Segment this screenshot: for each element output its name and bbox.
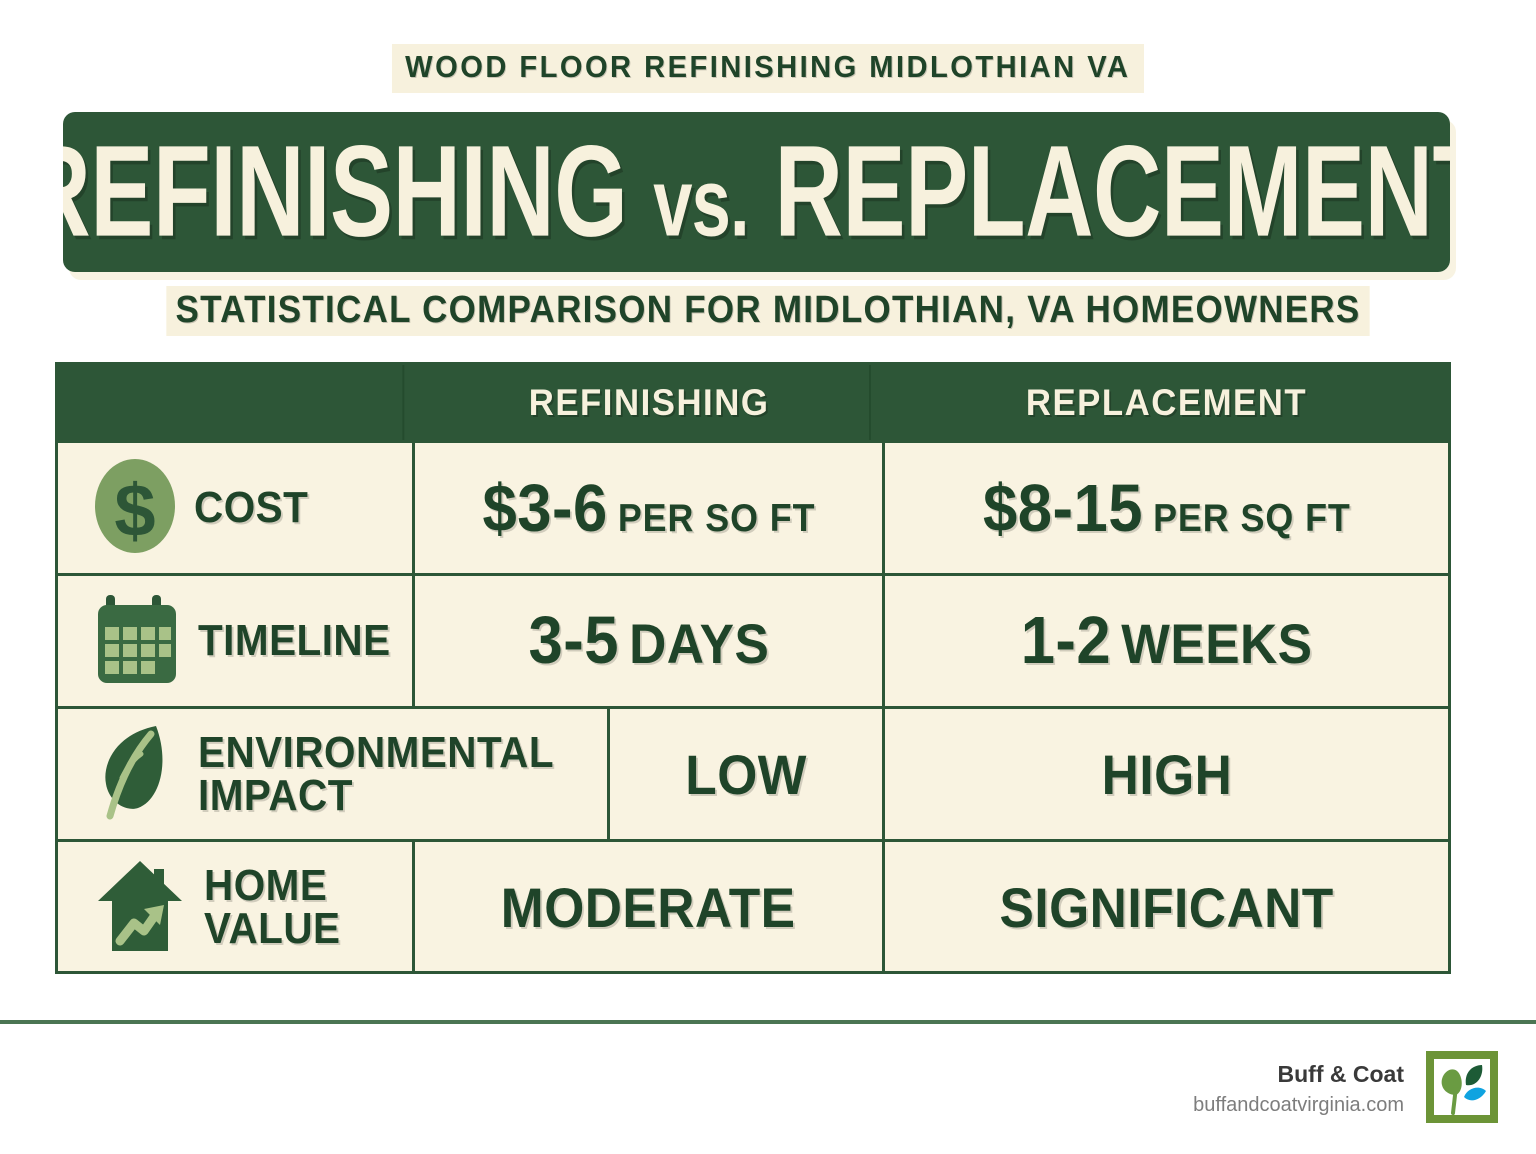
title-vs: vs. — [654, 150, 749, 257]
title-part-2: REPLACEMENT — [775, 119, 1450, 264]
eyebrow-text: WOOD FLOOR REFINISHING MIDLOTHIAN VA — [392, 44, 1144, 93]
row-label-text: COST — [194, 486, 308, 529]
row-label-cost: $ COST — [58, 443, 415, 573]
cell-environmental-replacement: HIGH — [885, 709, 1448, 839]
brand-url: buffandcoatvirginia.com — [1193, 1091, 1404, 1120]
footer: Buff & Coat buffandcoatvirginia.com — [0, 1024, 1536, 1154]
eyebrow-wrap: WOOD FLOOR REFINISHING MIDLOTHIAN VA — [0, 44, 1536, 93]
calendar-icon — [94, 591, 180, 692]
title-part-1: REFINISHING — [63, 119, 628, 264]
dollar-coin-icon: $ — [94, 457, 176, 560]
row-label-text: TIMELINE — [198, 619, 391, 662]
label-line-2: IMPACT — [198, 771, 353, 820]
row-label-text: HOMEVALUE — [204, 864, 340, 950]
cell-home-value-replacement: SIGNIFICANT — [885, 842, 1448, 972]
leaf-icon — [94, 720, 180, 829]
table-row-home-value: HOMEVALUE MODERATE SIGNIFICANT — [58, 839, 1448, 972]
cost-replacement-value: $8-15 — [983, 475, 1143, 542]
table-row-timeline: TIMELINE 3-5 DAYS 1-2 WEEKS — [58, 573, 1448, 706]
timeline-replacement-unit: WEEKS — [1121, 611, 1312, 676]
cell-cost-replacement: $8-15 PER SQ FT — [885, 443, 1448, 573]
label-line-2: VALUE — [204, 904, 340, 953]
timeline-refinishing-unit: DAYS — [629, 611, 769, 676]
timeline-refinishing-value: 3-5 — [528, 607, 618, 674]
buff-and-coat-leaf-logo — [1426, 1051, 1498, 1128]
cell-cost-refinishing: $3-6 PER SO FT — [415, 443, 885, 573]
brand-name: Buff & Coat — [1193, 1058, 1404, 1091]
title-banner: REFINISHING vs. REPLACEMENT — [63, 112, 1450, 272]
cell-timeline-refinishing: 3-5 DAYS — [415, 576, 885, 706]
row-label-text: ENVIRONMENTALIMPACT — [198, 731, 554, 817]
footer-text-block: Buff & Coat buffandcoatvirginia.com — [1193, 1058, 1404, 1120]
svg-text:$: $ — [114, 469, 155, 552]
cost-replacement-unit: PER SQ FT — [1153, 499, 1351, 538]
environmental-refinishing-value: LOW — [685, 742, 807, 807]
table-header-row: REFINISHING REPLACEMENT — [58, 365, 1448, 440]
cell-timeline-replacement: 1-2 WEEKS — [885, 576, 1448, 706]
label-line-1: ENVIRONMENTAL — [198, 728, 554, 777]
subtitle-text: STATISTICAL COMPARISON FOR MIDLOTHIAN, V… — [166, 286, 1369, 336]
cost-refinishing-unit: PER SO FT — [617, 499, 815, 538]
table-row-environmental-impact: ENVIRONMENTALIMPACT LOW HIGH — [58, 706, 1448, 839]
table-header-replacement: REPLACEMENT — [902, 365, 1431, 440]
house-growth-icon — [94, 853, 186, 962]
page-title: REFINISHING vs. REPLACEMENT — [63, 127, 1450, 257]
label-line-1: HOME — [204, 861, 327, 910]
timeline-replacement-value: 1-2 — [1021, 607, 1111, 674]
row-label-home-value: HOMEVALUE — [58, 842, 415, 972]
table-header-refinishing: REFINISHING — [429, 365, 871, 440]
cell-home-value-refinishing: MODERATE — [415, 842, 885, 972]
comparison-table: REFINISHING REPLACEMENT $ COST $3-6 PER … — [55, 362, 1451, 974]
subtitle-wrap: STATISTICAL COMPARISON FOR MIDLOTHIAN, V… — [0, 286, 1536, 336]
table-header-blank — [69, 365, 405, 440]
cost-refinishing-value: $3-6 — [482, 475, 607, 542]
row-label-timeline: TIMELINE — [58, 576, 415, 706]
cell-environmental-refinishing: LOW — [610, 709, 885, 839]
home-value-refinishing-value: MODERATE — [501, 875, 796, 940]
environmental-replacement-value: HIGH — [1101, 742, 1232, 807]
infographic-page: WOOD FLOOR REFINISHING MIDLOTHIAN VA REF… — [0, 0, 1536, 1154]
table-row-cost: $ COST $3-6 PER SO FT $8-15 PER SQ FT — [58, 440, 1448, 573]
home-value-replacement-value: SIGNIFICANT — [999, 875, 1333, 940]
row-label-environmental-impact: ENVIRONMENTALIMPACT — [58, 709, 610, 839]
